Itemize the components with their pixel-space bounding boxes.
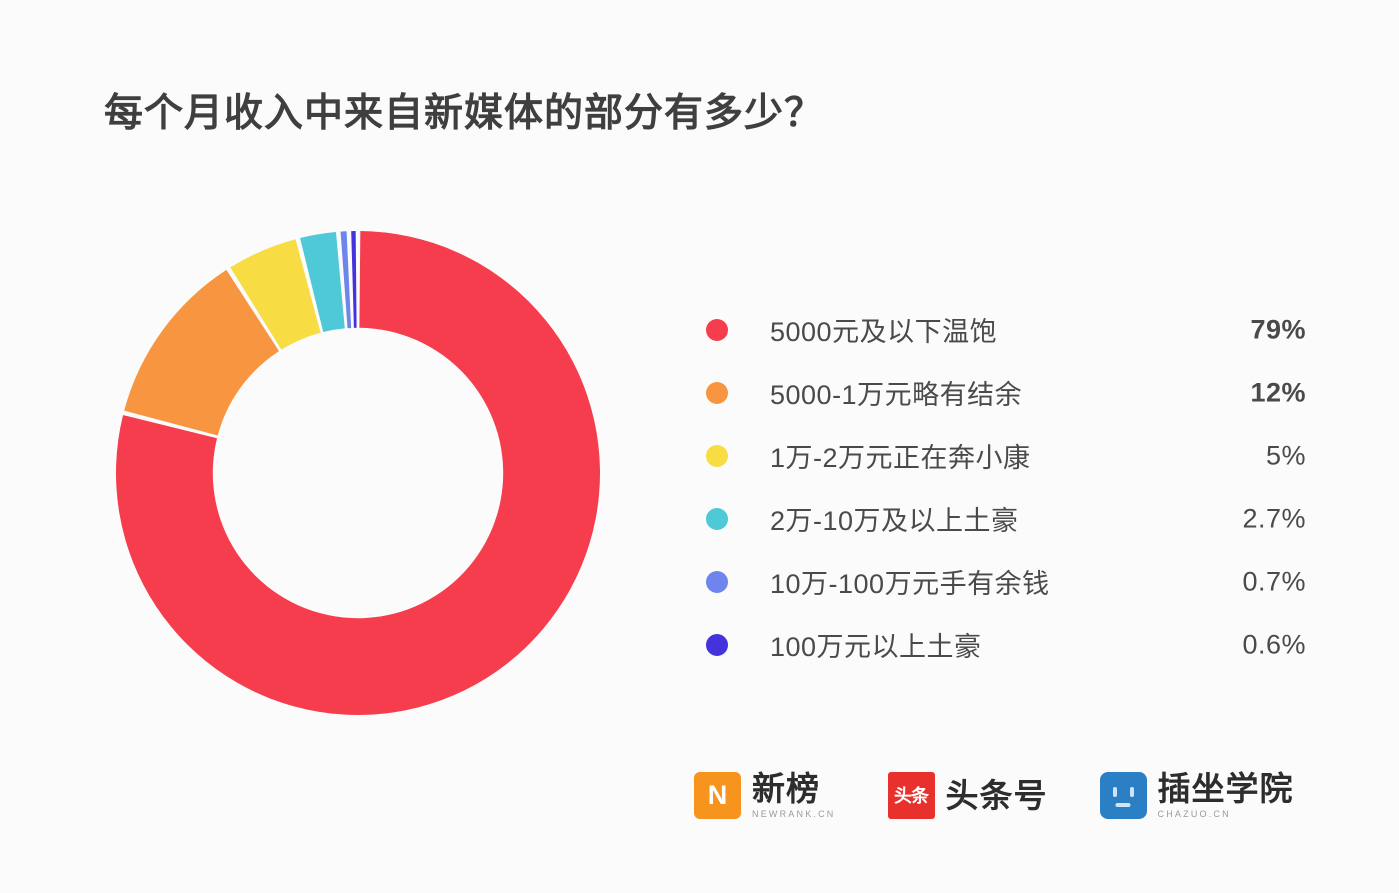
- newrank-logo-name: 新榜: [752, 772, 836, 805]
- newrank-logo-sub: NEWRANK.CN: [752, 810, 836, 819]
- legend-item-label: 5000元及以下温饱: [770, 310, 997, 349]
- legend-item[interactable]: 100万元以上土豪 0.6%: [706, 613, 1306, 676]
- chazuo-logo-text: 插坐学院 CHAZUO.CN: [1158, 772, 1294, 819]
- legend-item-value: 0.7%: [1210, 566, 1306, 597]
- legend-swatch-icon: [706, 571, 728, 593]
- legend-item-label: 2万-10万及以上土豪: [770, 499, 1019, 538]
- toutiaohao-logo-text: 头条号: [946, 779, 1048, 812]
- chazuo-face-eye-right-icon: [1130, 787, 1134, 797]
- logo-toutiaohao: 头条 头条号: [888, 772, 1048, 819]
- legend-item-value: 79%: [1210, 314, 1306, 345]
- legend-item-value: 5%: [1210, 440, 1306, 471]
- legend-item[interactable]: 2万-10万及以上土豪 2.7%: [706, 487, 1306, 550]
- legend-item-value: 12%: [1210, 377, 1306, 408]
- chart-legend: 5000元及以下温饱 79% 5000-1万元略有结余 12% 1万-2万元正在…: [706, 298, 1306, 676]
- footer-logo-bar: N 新榜 NEWRANK.CN 头条 头条号 插坐学院 CHAZU: [694, 772, 1294, 819]
- legend-item-value: 2.7%: [1210, 503, 1306, 534]
- newrank-logo-icon: N: [694, 772, 741, 819]
- legend-swatch-icon: [706, 445, 728, 467]
- legend-item-label: 100万元以上土豪: [770, 625, 982, 664]
- chazuo-logo-name: 插坐学院: [1158, 772, 1294, 805]
- legend-item-label: 5000-1万元略有结余: [770, 373, 1022, 412]
- legend-item[interactable]: 5000元及以下温饱 79%: [706, 298, 1306, 361]
- chazuo-face-mouth-icon: [1116, 803, 1131, 807]
- donut-slice-group: [116, 231, 600, 715]
- legend-item-value: 0.6%: [1210, 629, 1306, 660]
- legend-swatch-icon: [706, 319, 728, 341]
- legend-item-label: 10万-100万元手有余钱: [770, 562, 1050, 601]
- legend-item-label: 1万-2万元正在奔小康: [770, 436, 1031, 475]
- logo-chazuo: 插坐学院 CHAZUO.CN: [1100, 772, 1294, 819]
- page-title: 每个月收入中来自新媒体的部分有多少？: [104, 82, 824, 138]
- donut-chart-svg: [113, 228, 603, 718]
- newrank-logo-text: 新榜 NEWRANK.CN: [752, 772, 836, 819]
- chazuo-logo-icon: [1100, 772, 1147, 819]
- newrank-logo-glyph: N: [708, 782, 728, 809]
- chazuo-logo-sub: CHAZUO.CN: [1158, 810, 1294, 819]
- donut-chart: [113, 228, 603, 718]
- chazuo-face-eye-left-icon: [1113, 787, 1117, 797]
- toutiaohao-logo-glyph: 头条: [894, 787, 928, 805]
- legend-swatch-icon: [706, 382, 728, 404]
- donut-slice[interactable]: [351, 231, 356, 328]
- logo-newrank: N 新榜 NEWRANK.CN: [694, 772, 836, 819]
- legend-item[interactable]: 5000-1万元略有结余 12%: [706, 361, 1306, 424]
- slide-canvas: 每个月收入中来自新媒体的部分有多少？ 5000元及以下温饱 79% 5000-1…: [0, 0, 1399, 893]
- legend-swatch-icon: [706, 508, 728, 530]
- legend-item[interactable]: 10万-100万元手有余钱 0.7%: [706, 550, 1306, 613]
- toutiaohao-logo-icon: 头条: [888, 772, 935, 819]
- legend-swatch-icon: [706, 634, 728, 656]
- legend-item[interactable]: 1万-2万元正在奔小康 5%: [706, 424, 1306, 487]
- toutiaohao-logo-name: 头条号: [946, 779, 1048, 812]
